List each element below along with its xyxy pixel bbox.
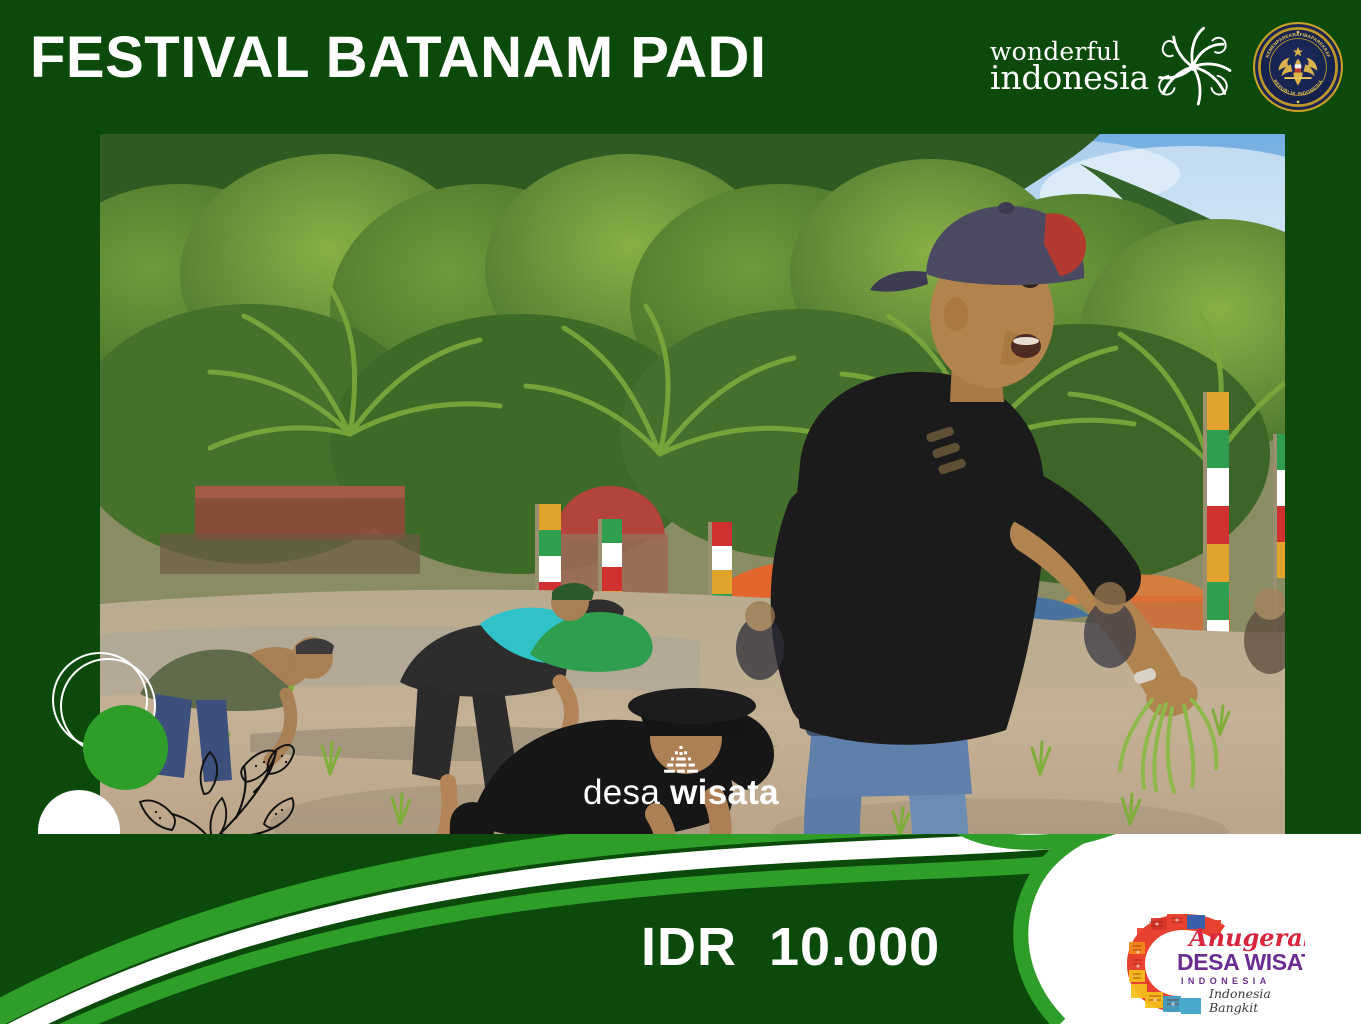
event-photo: desa wisata: [100, 134, 1285, 876]
page-title: FESTIVAL BATANAM PADI: [30, 29, 767, 87]
anugerah-desa-wisata-logo: Anugerah DESA WISATA INDONESIA Indonesia…: [1105, 900, 1305, 1018]
garuda-emblem-icon: [1275, 44, 1321, 90]
anugerah-line4b: Bangkit: [1208, 1000, 1259, 1015]
ministry-seal-icon: KEMENPAREKRAF/BAPAREKRAF REPUBLIK INDONE…: [1253, 22, 1343, 112]
anugerah-line2: DESA WISATA: [1177, 949, 1305, 975]
wonderful-indonesia-line2: indonesia: [990, 62, 1149, 94]
poster-canvas: FESTIVAL BATANAM PADI wonderful indonesi…: [0, 0, 1361, 1024]
anugerah-line4a: Indonesia: [1208, 986, 1271, 1001]
wonderful-indonesia-swirl-icon: [1147, 23, 1239, 111]
wonderful-indonesia-wordmark: wonderful indonesia: [990, 40, 1149, 95]
wonderful-indonesia-logo: wonderful indonesia: [990, 23, 1239, 111]
photo-illustration: [100, 134, 1285, 876]
brand-cluster: wonderful indonesia: [990, 22, 1343, 112]
photo-scene: [100, 134, 1285, 876]
price-label: IDR 10.000: [641, 920, 940, 974]
anugerah-line3: INDONESIA: [1181, 976, 1271, 986]
anugerah-line1: Anugerah: [1187, 923, 1305, 952]
anugerah-logo-graphic: Anugerah DESA WISATA INDONESIA Indonesia…: [1105, 900, 1305, 1018]
